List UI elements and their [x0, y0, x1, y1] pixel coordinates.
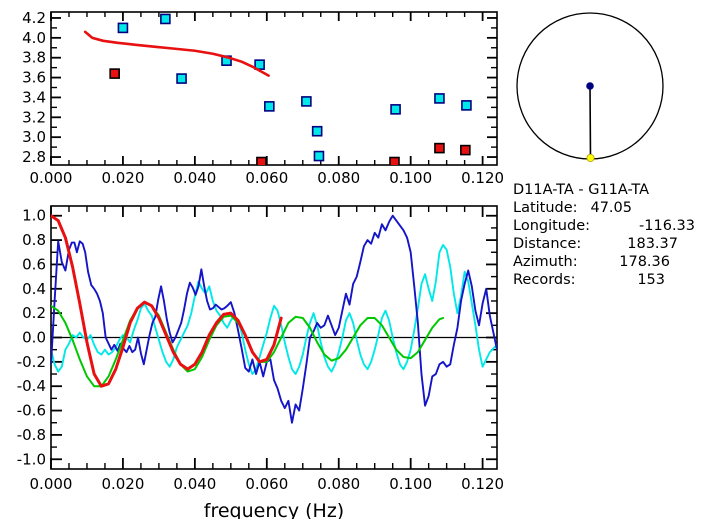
- y-tick-label: 4.2: [22, 9, 46, 27]
- records-label: Records:: [513, 272, 576, 288]
- records-value: 153: [637, 272, 665, 288]
- y-tick-label: 0.6: [22, 255, 46, 273]
- x-tick-label: 0.040: [173, 169, 216, 187]
- y-tick-label: -1.0: [17, 450, 46, 468]
- azimuth-value: 178.36: [619, 254, 670, 270]
- receiver-station-marker: [587, 154, 594, 161]
- great-circle-path-inset: [508, 0, 703, 178]
- y-tick-label: 3.8: [22, 49, 46, 67]
- data-point-marker: [110, 69, 119, 78]
- great-circle-path-line: [590, 86, 591, 158]
- y-tick-label: 0.0: [22, 329, 46, 347]
- spectra-chart: 0.0000.0200.0400.0600.0800.1000.120-1.0-…: [0, 194, 510, 519]
- y-tick-label: -0.2: [17, 353, 46, 371]
- top-data-layer: [85, 14, 471, 166]
- figure-root: 0.0000.0200.0400.0600.0800.1000.1202.83.…: [0, 0, 703, 519]
- data-point-marker: [265, 102, 274, 111]
- y-tick-label: 3.0: [22, 128, 46, 146]
- data-point-marker: [435, 94, 444, 103]
- x-tick-label: 0.100: [389, 475, 432, 493]
- y-tick-label: 0.8: [22, 231, 46, 249]
- x-tick-label: 0.060: [245, 169, 288, 187]
- source-station-marker: [587, 83, 594, 90]
- data-point-marker: [313, 127, 322, 136]
- distance-value: 183.37: [627, 236, 678, 252]
- x-tick-label: 0.080: [317, 169, 360, 187]
- data-point-marker: [461, 146, 470, 155]
- station-info-panel: D11A-TA - G11A-TA Latitude: 47.05 Longit…: [510, 180, 703, 300]
- x-tick-label: 0.020: [101, 169, 144, 187]
- y-tick-label: 3.6: [22, 69, 46, 87]
- azimuth-label: Azimuth:: [513, 254, 578, 270]
- x-tick-label: 0.020: [101, 475, 144, 493]
- x-tick-label: 0.000: [30, 475, 73, 493]
- longitude-value: -116.33: [639, 218, 695, 234]
- x-axis-label: frequency (Hz): [204, 500, 344, 519]
- data-point-marker: [118, 23, 127, 32]
- y-tick-label: 2.8: [22, 148, 46, 166]
- data-point-marker: [302, 97, 311, 106]
- series-observed-stack: [51, 216, 497, 423]
- latitude-value: 47.05: [590, 200, 632, 216]
- data-point-marker: [161, 14, 170, 23]
- data-point-marker: [435, 144, 444, 153]
- y-tick-label: 0.4: [22, 280, 46, 298]
- dispersion-chart: 0.0000.0200.0400.0600.0800.1000.1202.83.…: [0, 0, 510, 195]
- y-tick-label: 3.4: [22, 88, 46, 106]
- data-point-marker: [177, 74, 186, 83]
- y-tick-label: -0.4: [17, 377, 46, 395]
- y-tick-label: -0.8: [17, 426, 46, 444]
- x-tick-label: 0.120: [461, 475, 504, 493]
- plot-frame: [51, 12, 497, 165]
- y-tick-label: 3.2: [22, 108, 46, 126]
- bottom-data-layer: [51, 216, 497, 423]
- x-tick-label: 0.120: [461, 169, 504, 187]
- longitude-label: Longitude:: [513, 218, 590, 234]
- x-tick-label: 0.060: [245, 475, 288, 493]
- station-pair-label: D11A-TA - G11A-TA: [513, 182, 649, 198]
- y-tick-label: 0.2: [22, 304, 46, 322]
- y-tick-label: 1.0: [22, 207, 46, 225]
- data-point-marker: [462, 101, 471, 110]
- distance-label: Distance:: [513, 236, 581, 252]
- x-tick-label: 0.100: [389, 169, 432, 187]
- latitude-label: Latitude:: [513, 200, 578, 216]
- x-tick-label: 0.080: [317, 475, 360, 493]
- y-tick-label: 4.0: [22, 29, 46, 47]
- data-point-marker: [391, 105, 400, 114]
- data-point-marker: [314, 152, 323, 161]
- x-tick-label: 0.040: [173, 475, 216, 493]
- x-tick-label: 0.000: [30, 169, 73, 187]
- y-tick-label: -0.6: [17, 402, 46, 420]
- station-info-svg: D11A-TA - G11A-TA Latitude: 47.05 Longit…: [510, 180, 703, 300]
